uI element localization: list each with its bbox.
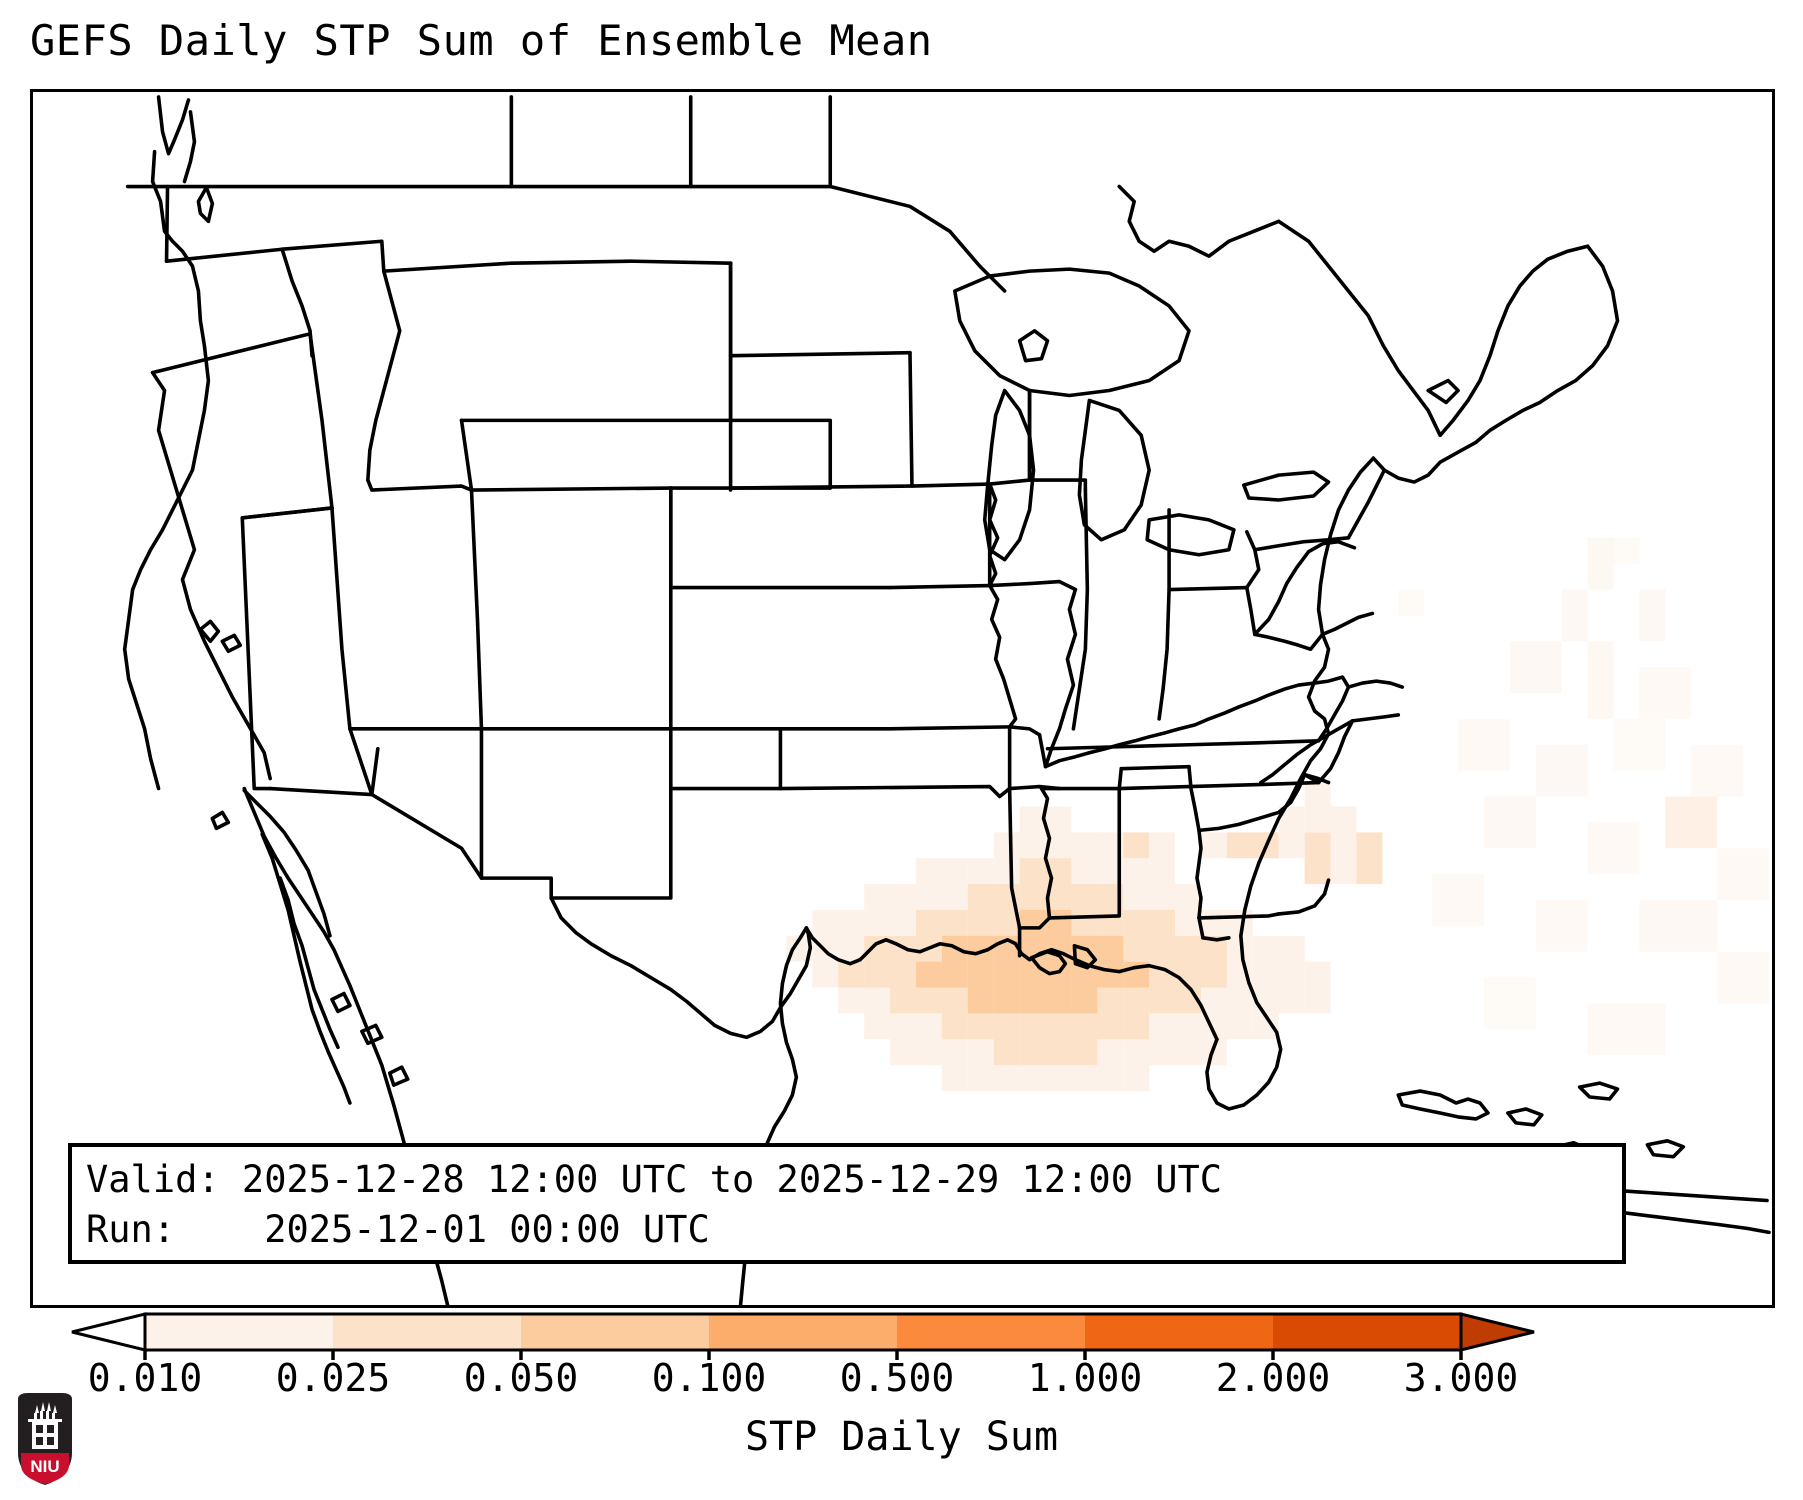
az-mexico (372, 795, 482, 879)
wy-id-border (462, 420, 472, 490)
al-fl-gulf (1203, 938, 1229, 940)
colorbar-segment-1 (333, 1314, 522, 1350)
island-e (362, 1025, 382, 1043)
border-seg2 (511, 97, 690, 187)
ut-wy-border (471, 488, 670, 490)
colorbar-tick-label-5: 1.000 (1028, 1356, 1142, 1400)
sd-ne-border (731, 486, 910, 488)
al-fl-border (1199, 914, 1279, 918)
niu-logo: NIU (14, 1391, 76, 1487)
page-title: GEFS Daily STP Sum of Ensemble Mean (30, 16, 933, 65)
colorbar-tick-label-3: 0.100 (652, 1356, 766, 1400)
lake-huron (1079, 400, 1149, 539)
channel-island-b (222, 635, 240, 651)
mt-idaho-border (384, 261, 731, 271)
niu-logo-text: NIU (30, 1457, 59, 1476)
wv-pa-border (1255, 542, 1355, 635)
va-nc-border (1348, 681, 1402, 687)
il-in-border (1073, 490, 1087, 729)
border-minnesota (830, 187, 1004, 291)
ms-al-border (1189, 767, 1203, 938)
bahamas-outer (1580, 1083, 1618, 1099)
wi-il-border (1030, 391, 1086, 491)
lake-superior (955, 269, 1189, 395)
baja-west-inner (280, 878, 338, 1047)
colorbar-segment-3 (709, 1314, 898, 1350)
vancouver-island (159, 97, 189, 154)
colorbar-tick-label-group: 0.0100.0250.0500.1000.5001.0002.0003.000 (0, 1356, 1803, 1406)
nv-az-border (332, 508, 372, 795)
colorbar-over-arrow (1461, 1314, 1534, 1350)
id-nv-ut (368, 480, 472, 490)
lake-erie (1147, 515, 1234, 555)
mississippi-delta (1032, 952, 1066, 974)
colorbar: 0.0100.0250.0500.1000.5001.0002.0003.000… (0, 1310, 1803, 1500)
ar-ok-tx-east (1010, 789, 1020, 928)
ky-tn-border (1047, 741, 1318, 749)
colorbar-tick-label-2: 0.050 (464, 1356, 578, 1400)
colorbar-tick-label-1: 0.025 (276, 1356, 390, 1400)
run-time-line: Run: 2025-12-01 00:00 UTC (80, 1205, 1622, 1255)
nevada-west (242, 508, 332, 789)
wi-mn-border (990, 391, 1030, 485)
gulf-of-california-north (244, 791, 330, 936)
maine-coast (1476, 246, 1618, 442)
wa-north (167, 187, 168, 262)
il-in-border-helper (1075, 590, 1129, 592)
colorbar-tick-label-6: 2.000 (1216, 1356, 1330, 1400)
id-wa-corner (282, 187, 292, 250)
valid-run-info-box: Valid: 2025-12-28 12:00 UTC to 2025-12-2… (68, 1143, 1626, 1264)
nc-sc-border-helper (1352, 715, 1398, 721)
lake-superior-north (1119, 187, 1278, 257)
colorbar-tick-label-7: 3.000 (1404, 1356, 1518, 1400)
or-nv-border (310, 334, 332, 508)
colorbar-axis-label: STP Daily Sum (0, 1414, 1803, 1460)
az-nm-border (481, 729, 551, 898)
ca-az-border (270, 749, 378, 795)
island-h (1647, 1141, 1683, 1157)
maine-border (1413, 246, 1587, 435)
nm-tx-border (551, 789, 671, 898)
ms-al-north (1121, 767, 1189, 769)
bahamas-upper (1398, 1091, 1488, 1119)
ontario-border (1279, 221, 1414, 390)
mo-ar-border-helper (1030, 735, 1040, 827)
colorbar-segment-0 (145, 1314, 334, 1350)
tn-north (1042, 783, 1319, 789)
ks-mo-ok (1010, 727, 1040, 735)
mn-ia-border (912, 484, 990, 585)
ms-al-south-helper (1119, 830, 1199, 832)
oh-pa-border (1247, 532, 1259, 588)
lake-ontario (1244, 472, 1329, 500)
bahamas-isle (1508, 1109, 1542, 1125)
island-f (390, 1067, 408, 1085)
mo-ks-ne-river (990, 586, 1016, 727)
ut-nv-border (471, 490, 481, 729)
ga-fl-border (1279, 880, 1329, 914)
island-d (332, 994, 350, 1012)
island-a (198, 188, 212, 222)
oh-border-e (1169, 588, 1255, 635)
co-ok-border (671, 729, 781, 789)
puget-islands (184, 112, 194, 182)
ar-ms-river (1020, 789, 1052, 928)
isle-royale (1020, 331, 1048, 361)
ia-mo-il (990, 582, 1076, 590)
colorbar-segment-6 (1273, 1314, 1462, 1350)
in-oh-border (1159, 510, 1169, 719)
idaho-east (282, 241, 400, 480)
ne-ks-mo (890, 586, 990, 588)
wy-east (731, 420, 831, 488)
or-ca-border (153, 334, 310, 373)
nd-sd-border (731, 353, 910, 356)
colorbar-tick-label-0: 0.010 (88, 1356, 202, 1400)
tx-mexico-border (551, 898, 810, 1037)
ok-tx-red-river (780, 787, 1009, 797)
lake-michigan (985, 391, 1034, 560)
border-seg3 (691, 97, 831, 187)
ky-ohio-river (1046, 677, 1349, 767)
colorbar-tick-label-4: 0.500 (840, 1356, 954, 1400)
florida-gulf-coast (1134, 966, 1217, 1040)
island-c (212, 812, 228, 828)
colorbar-segment-group (145, 1314, 1462, 1350)
mt-north-helper (382, 229, 681, 241)
ms-tn-border-helper (1119, 769, 1121, 833)
colorbar-segment-5 (1085, 1314, 1274, 1350)
sd-mn-border (910, 353, 912, 486)
basemap-outlines (33, 92, 1772, 1305)
ga-fl-helper (1279, 858, 1309, 914)
wv-va-border (1255, 634, 1323, 649)
mo-il-mississippi (1040, 590, 1076, 767)
valid-time-line: Valid: 2025-12-28 12:00 UTC to 2025-12-2… (80, 1155, 1622, 1205)
la-ms-border (1049, 832, 1119, 918)
colorbar-swatches (0, 1310, 1803, 1360)
colorbar-segment-4 (897, 1314, 1086, 1350)
cape-cod-area (1428, 381, 1458, 403)
ne-coast (1373, 442, 1476, 482)
nv-north (242, 508, 332, 518)
va-md-border (1323, 613, 1373, 634)
baja-east (262, 834, 350, 1103)
ks-ok-border (890, 727, 1010, 729)
colorbar-under-arrow (72, 1314, 145, 1350)
map-panel (30, 89, 1775, 1308)
colorbar-segment-2 (521, 1314, 710, 1350)
